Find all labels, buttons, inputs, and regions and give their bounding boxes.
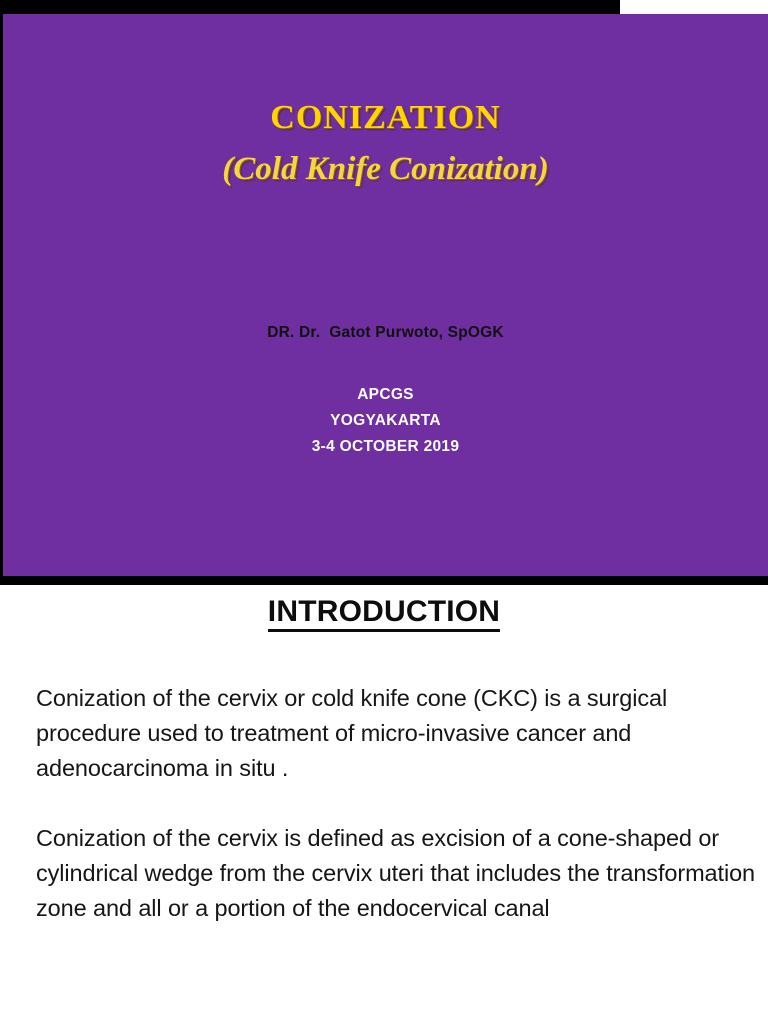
event-block: APCGS YOGYAKARTA 3-4 OCTOBER 2019: [3, 382, 768, 460]
section-heading: INTRODUCTION: [0, 595, 768, 629]
page-subtitle: (Cold Knife Conization): [3, 151, 768, 189]
title-block: CONIZATION (Cold Knife Conization): [3, 98, 768, 189]
section-heading-label: INTRODUCTION: [268, 595, 500, 632]
top-black-bar: [0, 0, 620, 14]
presenter-block: DR. Dr. Gatot Purwoto, SpOGK: [3, 324, 768, 342]
slide-page: CONIZATION (Cold Knife Conization) DR. D…: [0, 0, 768, 1024]
event-location: YOGYAKARTA: [3, 408, 768, 434]
slide-divider: [0, 576, 768, 585]
content-slide: INTRODUCTION Conization of the cervix or…: [0, 585, 768, 1024]
event-organization: APCGS: [3, 382, 768, 408]
body-paragraph-1: Conization of the cervix or cold knife c…: [36, 681, 760, 786]
page-title: CONIZATION: [3, 98, 768, 137]
title-slide: CONIZATION (Cold Knife Conization) DR. D…: [0, 14, 768, 576]
body-copy: Conization of the cervix or cold knife c…: [36, 681, 760, 926]
body-paragraph-2: Conization of the cervix is defined as e…: [36, 821, 760, 926]
event-date: 3-4 OCTOBER 2019: [3, 434, 768, 460]
presenter-name: DR. Dr. Gatot Purwoto, SpOGK: [3, 324, 768, 342]
